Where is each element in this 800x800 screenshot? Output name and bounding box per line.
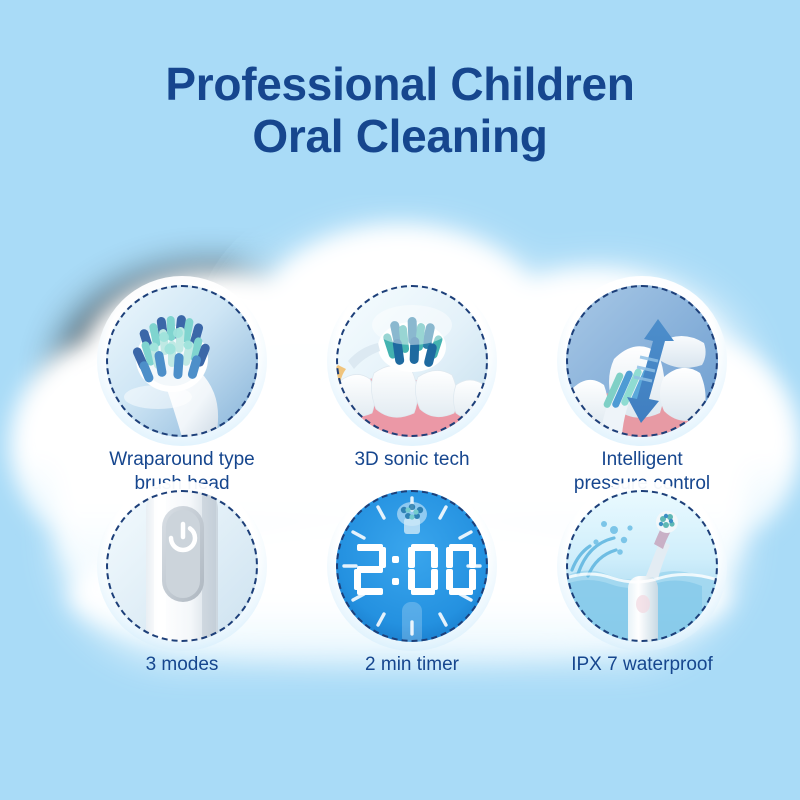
water-splash-icon — [566, 490, 718, 642]
feature-2-min-timer[interactable]: 2 min timer — [302, 490, 522, 695]
feature-grid: Wraparound type brush head — [72, 285, 732, 695]
caption-line: Intelligent — [532, 448, 752, 472]
brush-on-teeth-icon — [336, 285, 488, 437]
feature-caption: 3 modes — [72, 653, 292, 677]
feature-ipx7-waterproof[interactable]: IPX 7 waterproof — [532, 490, 752, 695]
badge-image-clip — [566, 490, 718, 642]
badge-image-clip — [336, 285, 488, 437]
caption-line: Wraparound type — [72, 448, 292, 472]
page-title: Professional Children Oral Cleaning — [0, 58, 800, 162]
title-line-1: Professional Children — [0, 58, 800, 110]
badge-intelligent-pressure-control[interactable] — [566, 285, 718, 437]
product-infographic-poster: Professional Children Oral Cleaning — [0, 0, 800, 800]
timer-icon — [336, 490, 488, 642]
badge-3-modes[interactable] — [106, 490, 258, 642]
feature-3-modes[interactable]: 3 modes — [72, 490, 292, 695]
caption-line: 2 min timer — [302, 653, 522, 677]
feature-wraparound-brush-head[interactable]: Wraparound type brush head — [72, 285, 292, 490]
feature-3d-sonic-tech[interactable]: 3D sonic tech — [302, 285, 522, 490]
feature-caption: IPX 7 waterproof — [532, 653, 752, 677]
feature-caption: 2 min timer — [302, 653, 522, 677]
title-line-2: Oral Cleaning — [0, 110, 800, 162]
caption-line: 3 modes — [72, 653, 292, 677]
badge-3d-sonic-tech[interactable] — [336, 285, 488, 437]
power-button-icon — [106, 490, 258, 642]
pressure-arrow-icon — [566, 285, 718, 437]
badge-wraparound-brush-head[interactable] — [106, 285, 258, 437]
caption-line: IPX 7 waterproof — [532, 653, 752, 677]
badge-image-clip — [106, 285, 258, 437]
badge-image-clip — [336, 490, 488, 642]
badge-image-clip — [106, 490, 258, 642]
badge-ipx7-waterproof[interactable] — [566, 490, 718, 642]
caption-line: 3D sonic tech — [302, 448, 522, 472]
badge-2-min-timer[interactable] — [336, 490, 488, 642]
feature-intelligent-pressure-control[interactable]: Intelligent pressure control — [532, 285, 752, 490]
toothbrush-head-icon — [106, 285, 258, 437]
badge-image-clip — [566, 285, 718, 437]
feature-caption: 3D sonic tech — [302, 448, 522, 472]
